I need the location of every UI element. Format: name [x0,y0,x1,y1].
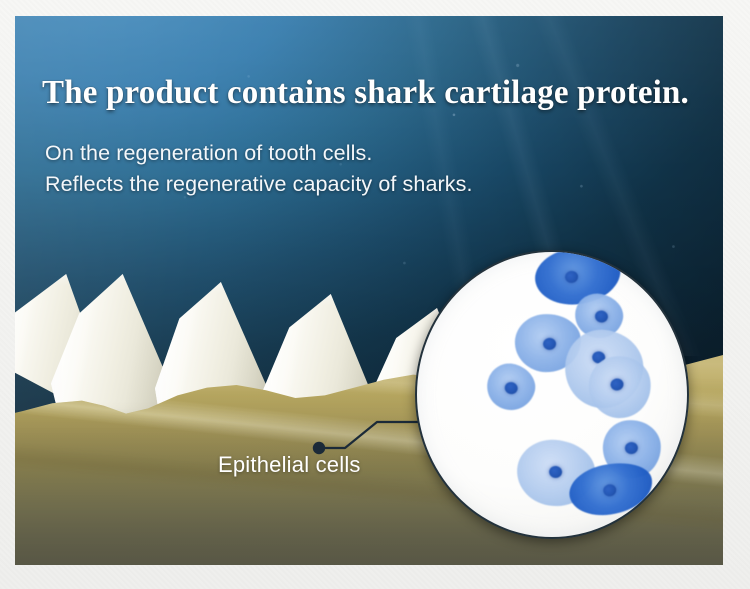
microscope-circle-inset [415,250,689,539]
page-frame: The product contains shark cartilage pro… [0,0,750,589]
cell-nucleus [594,309,609,323]
cell-nucleus [503,381,519,396]
cell-nucleus [624,441,638,454]
cell-nucleus [543,337,557,350]
subtitle-line-2: Reflects the regenerative capacity of sh… [45,171,473,197]
page-title: The product contains shark cartilage pro… [42,74,711,112]
cell-nucleus [602,483,617,497]
cell-nucleus [564,270,579,284]
cell-nucleus [610,377,625,391]
callout-label: Epithelial cells [218,452,361,478]
subtitle-line-1: On the regeneration of tooth cells. [45,140,372,166]
cell-nucleus [549,466,563,479]
promo-banner: The product contains shark cartilage pro… [15,16,723,565]
